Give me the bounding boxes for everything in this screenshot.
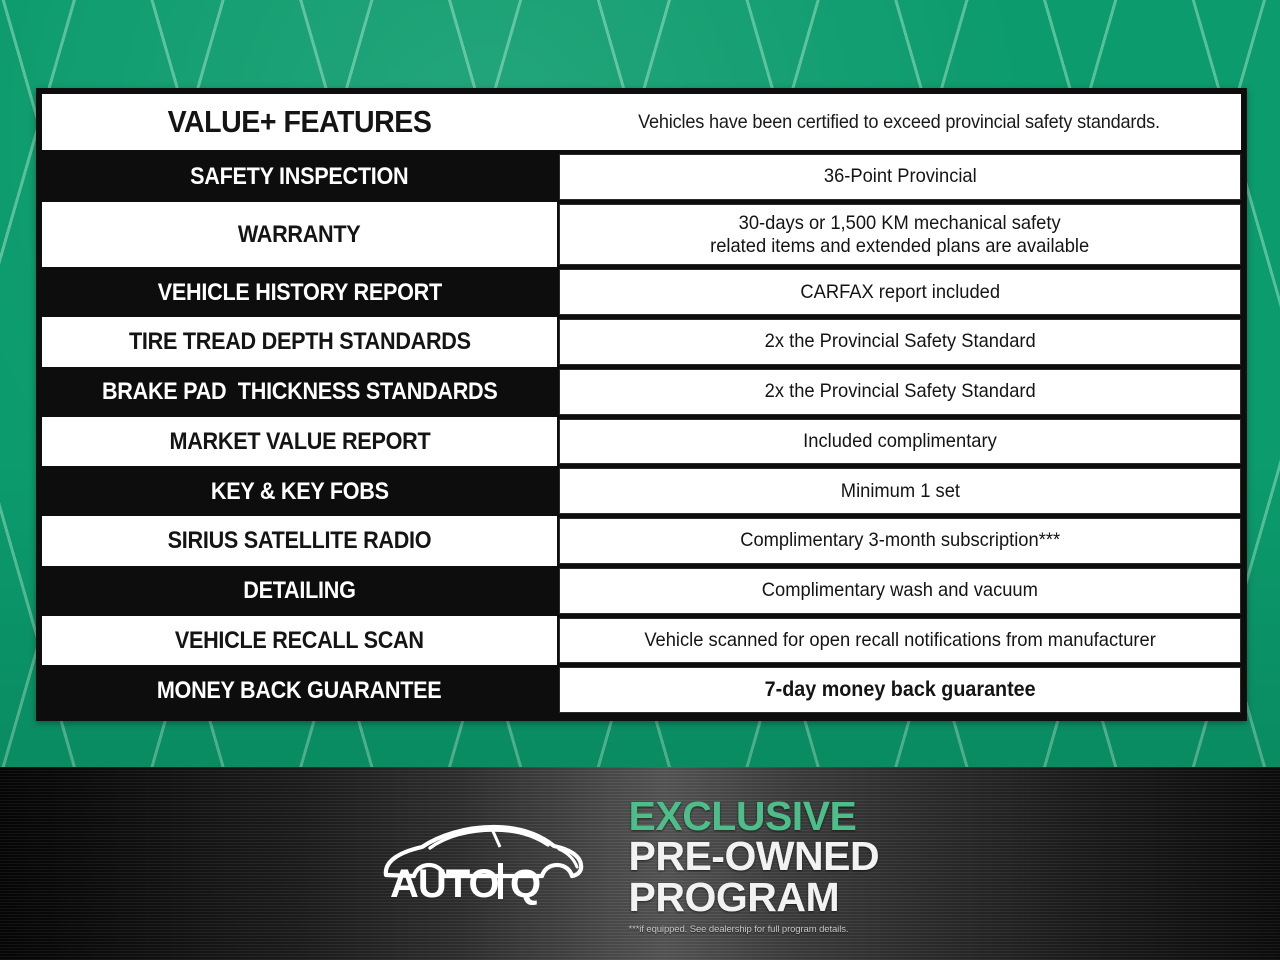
feature-label-text: SIRIUS SATELLITE RADIO bbox=[168, 528, 432, 553]
feature-label-cell: KEY & KEY FOBS bbox=[42, 466, 557, 516]
feature-label-text: DETAILING bbox=[243, 578, 355, 603]
feature-label-text: TIRE TREAD DEPTH STANDARDS bbox=[129, 329, 471, 354]
feature-label-cell: MONEY BACK GUARANTEE bbox=[42, 665, 557, 715]
feature-value-cell: Included complimentary bbox=[559, 419, 1241, 465]
features-table: VALUE+ FEATURES Vehicles have been certi… bbox=[42, 94, 1241, 715]
feature-value-text: 7-day money back guarantee bbox=[765, 678, 1036, 703]
page-title: VALUE+ FEATURES bbox=[63, 104, 537, 140]
table-header-row: VALUE+ FEATURES Vehicles have been certi… bbox=[42, 94, 1241, 152]
table-row: SAFETY INSPECTION36-Point Provincial bbox=[42, 152, 1241, 202]
program-headline: EXCLUSIVE PRE-OWNED PROGRAM ***if equipp… bbox=[629, 792, 907, 935]
feature-value-cell: 36-Point Provincial bbox=[559, 154, 1241, 200]
feature-label-text: SAFETY INSPECTION bbox=[190, 164, 408, 189]
feature-label-text: MARKET VALUE REPORT bbox=[169, 429, 430, 454]
feature-value-cell: Complimentary 3-month subscription*** bbox=[559, 518, 1241, 564]
feature-value-text: CARFAX report included bbox=[800, 281, 1000, 304]
feature-label-text: BRAKE PAD THICKNESS STANDARDS bbox=[102, 379, 498, 404]
table-row: MONEY BACK GUARANTEE7-day money back gua… bbox=[42, 665, 1241, 715]
table-row: SIRIUS SATELLITE RADIOComplimentary 3-mo… bbox=[42, 516, 1241, 566]
autoiq-logo: AUTO Q bbox=[374, 811, 589, 916]
feature-value-text: Complimentary wash and vacuum bbox=[762, 579, 1038, 602]
feature-value-cell: Vehicle scanned for open recall notifica… bbox=[559, 618, 1241, 664]
table-row: WARRANTY30-days or 1,500 KM mechanical s… bbox=[42, 202, 1241, 268]
feature-label-text: KEY & KEY FOBS bbox=[211, 479, 389, 504]
feature-value-text: Vehicle scanned for open recall notifica… bbox=[644, 629, 1155, 652]
logo-wordmark-q: Q bbox=[510, 862, 541, 906]
headline-line-program: PROGRAM bbox=[629, 877, 907, 917]
feature-label-cell: VEHICLE HISTORY REPORT bbox=[42, 267, 557, 317]
feature-value-cell: CARFAX report included bbox=[559, 269, 1241, 315]
feature-value-text: Minimum 1 set bbox=[840, 480, 959, 503]
feature-value-text: 2x the Provincial Safety Standard bbox=[764, 380, 1035, 403]
feature-label-cell: MARKET VALUE REPORT bbox=[42, 417, 557, 467]
feature-label-text: MONEY BACK GUARANTEE bbox=[157, 678, 442, 703]
feature-label-cell: TIRE TREAD DEPTH STANDARDS bbox=[42, 317, 557, 367]
header-description: Vehicles have been certified to exceed p… bbox=[581, 111, 1217, 134]
feature-label-text: VEHICLE RECALL SCAN bbox=[175, 628, 424, 653]
feature-value-text: 30-days or 1,500 KM mechanical safetyrel… bbox=[710, 212, 1089, 258]
feature-label-cell: SAFETY INSPECTION bbox=[42, 152, 557, 202]
headline-line-exclusive: EXCLUSIVE bbox=[629, 796, 907, 836]
feature-value-cell: Minimum 1 set bbox=[559, 468, 1241, 514]
logo-divider-bar bbox=[498, 863, 503, 899]
table-row: VEHICLE HISTORY REPORTCARFAX report incl… bbox=[42, 267, 1241, 317]
table-row: KEY & KEY FOBSMinimum 1 set bbox=[42, 466, 1241, 516]
feature-value-text: Included complimentary bbox=[803, 430, 997, 453]
feature-value-cell: 30-days or 1,500 KM mechanical safetyrel… bbox=[559, 204, 1241, 266]
feature-label-text: VEHICLE HISTORY REPORT bbox=[157, 280, 441, 305]
headline-line-preowned: PRE-OWNED bbox=[629, 836, 907, 876]
logo-wordmark-auto: AUTO bbox=[390, 862, 499, 906]
table-row: BRAKE PAD THICKNESS STANDARDS2x the Prov… bbox=[42, 367, 1241, 417]
car-silhouette-icon: AUTO Q bbox=[374, 811, 589, 916]
feature-value-cell: 2x the Provincial Safety Standard bbox=[559, 369, 1241, 415]
feature-label-cell: BRAKE PAD THICKNESS STANDARDS bbox=[42, 367, 557, 417]
table-row: DETAILINGComplimentary wash and vacuum bbox=[42, 566, 1241, 616]
feature-label-text: WARRANTY bbox=[238, 222, 361, 247]
feature-label-cell: SIRIUS SATELLITE RADIO bbox=[42, 516, 557, 566]
table-body: SAFETY INSPECTION36-Point ProvincialWARR… bbox=[42, 152, 1241, 715]
feature-value-cell: 2x the Provincial Safety Standard bbox=[559, 319, 1241, 365]
feature-value-text: 36-Point Provincial bbox=[824, 165, 977, 188]
feature-value-cell: 7-day money back guarantee bbox=[559, 667, 1241, 713]
table-row: TIRE TREAD DEPTH STANDARDS2x the Provinc… bbox=[42, 317, 1241, 367]
value-plus-features-panel: VALUE+ FEATURES Vehicles have been certi… bbox=[36, 88, 1247, 721]
feature-label-cell: WARRANTY bbox=[42, 202, 557, 268]
table-row: VEHICLE RECALL SCANVehicle scanned for o… bbox=[42, 616, 1241, 666]
fineprint-disclaimer: ***if equipped. See dealership for full … bbox=[629, 924, 907, 935]
footer-brand-bar: AUTO Q EXCLUSIVE PRE-OWNED PROGRAM ***if… bbox=[0, 767, 1280, 960]
feature-label-cell: VEHICLE RECALL SCAN bbox=[42, 616, 557, 666]
feature-value-text: Complimentary 3-month subscription*** bbox=[740, 529, 1060, 552]
feature-value-text: 2x the Provincial Safety Standard bbox=[764, 330, 1035, 353]
feature-label-cell: DETAILING bbox=[42, 566, 557, 616]
table-row: MARKET VALUE REPORTIncluded complimentar… bbox=[42, 417, 1241, 467]
feature-value-cell: Complimentary wash and vacuum bbox=[559, 568, 1241, 614]
